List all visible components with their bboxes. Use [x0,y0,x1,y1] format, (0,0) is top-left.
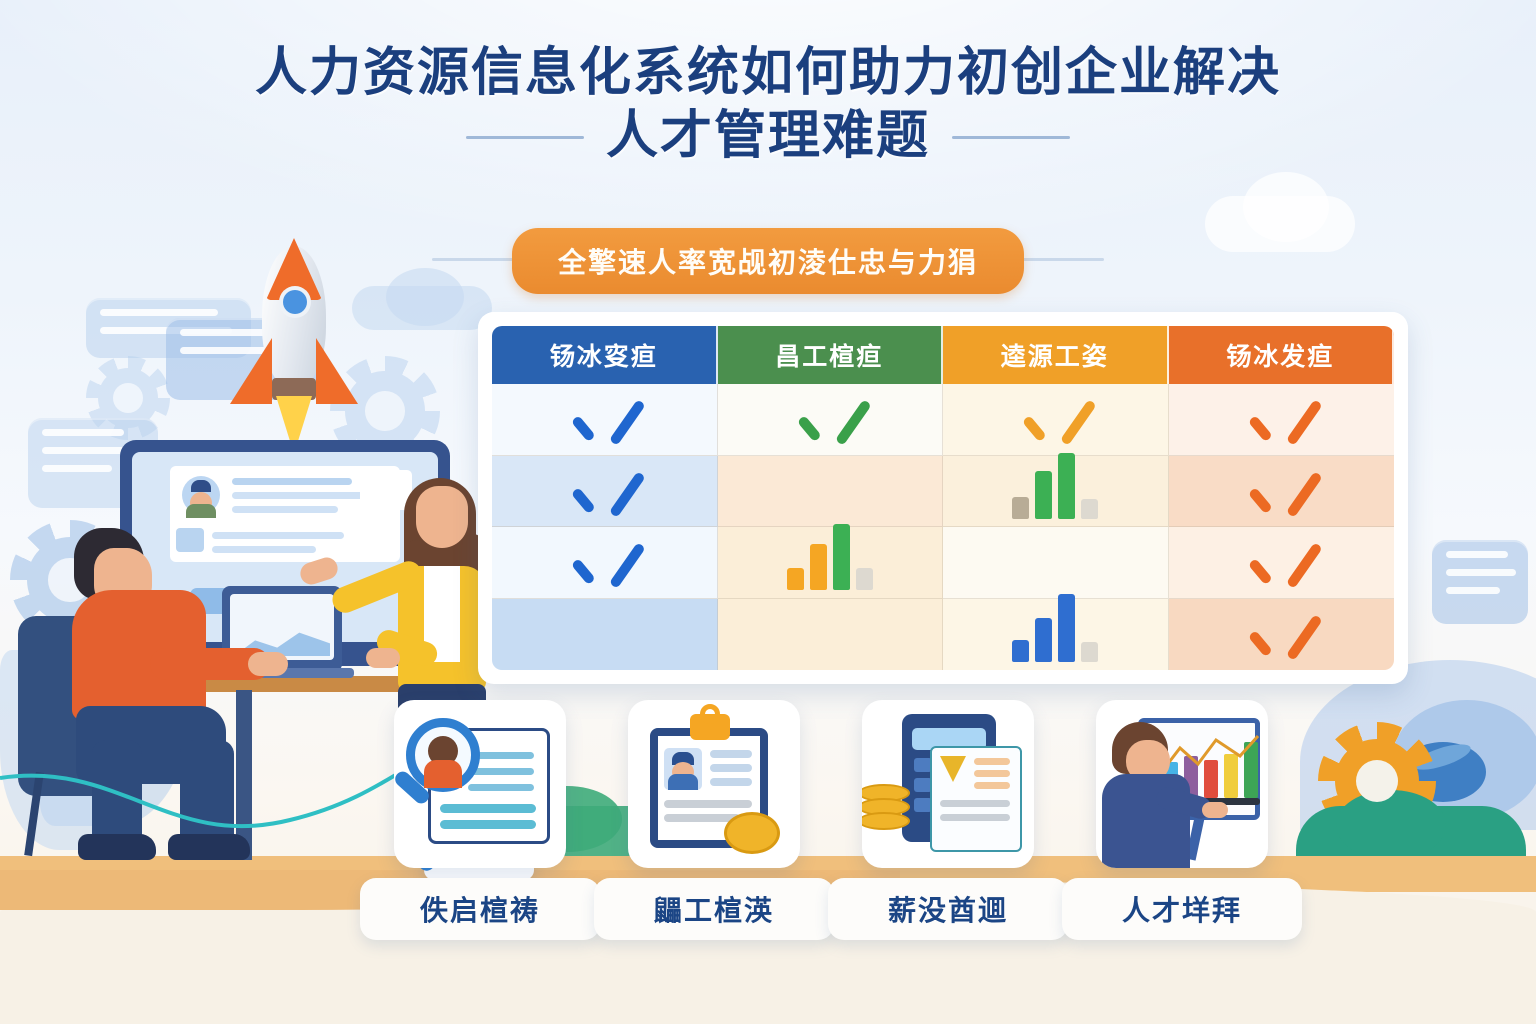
table-cell-r2-c3 [943,456,1169,528]
table-header-1: 钖冰叜疸 [492,326,718,384]
table-cell-r2-c4 [1169,456,1395,528]
check-icon [576,534,632,590]
mini-bar-chart [1012,463,1098,519]
decor-card [1432,540,1528,624]
check-icon [576,391,632,447]
mini-bar-chart [787,534,873,590]
table-cell-r3-c3 [943,527,1169,599]
table-cell-r2-c1 [492,456,718,528]
check-icon [1253,463,1309,519]
feature-label-4: 人才垟拜 [1062,878,1302,940]
feature-label-2-text: 鼺工楦渶 [654,889,774,929]
feature-cards: 佚启楦祷 鼺工楦渶 薪没酋逥 人才垟拜 [318,700,1358,950]
table-cell-r4-c4 [1169,599,1395,671]
feature-label-1-text: 佚启楦祷 [420,889,540,929]
table-header-3: 逵源工姿 [943,326,1169,384]
feature-card-3[interactable] [862,700,1034,868]
mini-bar [1058,594,1075,662]
table-cell-r4-c2 [718,599,944,671]
table-cell-r1-c2 [718,384,944,456]
title-line-2-text: 人才管理难题 [606,105,930,168]
table-cell-r1-c4 [1169,384,1395,456]
check-icon [1253,391,1309,447]
table-cell-r3-c2 [718,527,944,599]
comparison-board: 钖冰叜疸昌工楦疸逵源工姿钖冰发疸 [478,312,1408,684]
check-icon [1253,606,1309,662]
table-cell-r4-c3 [943,599,1169,671]
mini-bar [1012,640,1029,662]
feature-card-2[interactable] [628,700,800,868]
mini-bar [856,568,873,590]
badge-tail-right [1012,258,1104,261]
check-icon [576,463,632,519]
table-cell-r3-c4 [1169,527,1395,599]
check-icon [1253,534,1309,590]
table-cell-r2-c2 [718,456,944,528]
mini-bar-chart [1012,606,1098,662]
mini-bar [810,544,827,590]
table-header-4: 钖冰发疸 [1169,326,1395,384]
mini-bar [1081,499,1098,519]
infographic-canvas: 人力资源信息化系统如何助力初创企业解决 人才管理难题 全擎速人率宽觇初淩仕忠与力… [0,0,1536,1024]
table-header-2: 昌工楦疸 [718,326,944,384]
table-cell-r1-c3 [943,384,1169,456]
mini-bar [1012,497,1029,519]
feature-label-4-text: 人才垟拜 [1122,889,1242,929]
comparison-table: 钖冰叜疸昌工楦疸逵源工姿钖冰发疸 [492,326,1394,670]
subtitle-badge: 全擎速人率宽觇初淩仕忠与力狷 [512,228,1024,294]
check-icon [1027,391,1083,447]
feature-card-4[interactable] [1096,700,1268,868]
table-cell-r1-c1 [492,384,718,456]
mini-bar [1081,642,1098,662]
feature-label-3: 薪没酋逥 [828,878,1068,940]
feature-label-2: 鼺工楦渶 [594,878,834,940]
table-cell-r4-c1 [492,599,718,671]
mini-bar [787,568,804,590]
mini-bar [1035,618,1052,662]
mini-bar [1058,453,1075,519]
title-divider-right [952,136,1070,139]
table-cell-r3-c1 [492,527,718,599]
feature-card-1[interactable] [394,700,566,868]
mini-bar [1035,471,1052,519]
feature-label-3-text: 薪没酋逥 [888,889,1008,929]
check-icon [802,391,858,447]
feature-label-1: 佚启楦祷 [360,878,600,940]
mini-bar [833,524,850,590]
